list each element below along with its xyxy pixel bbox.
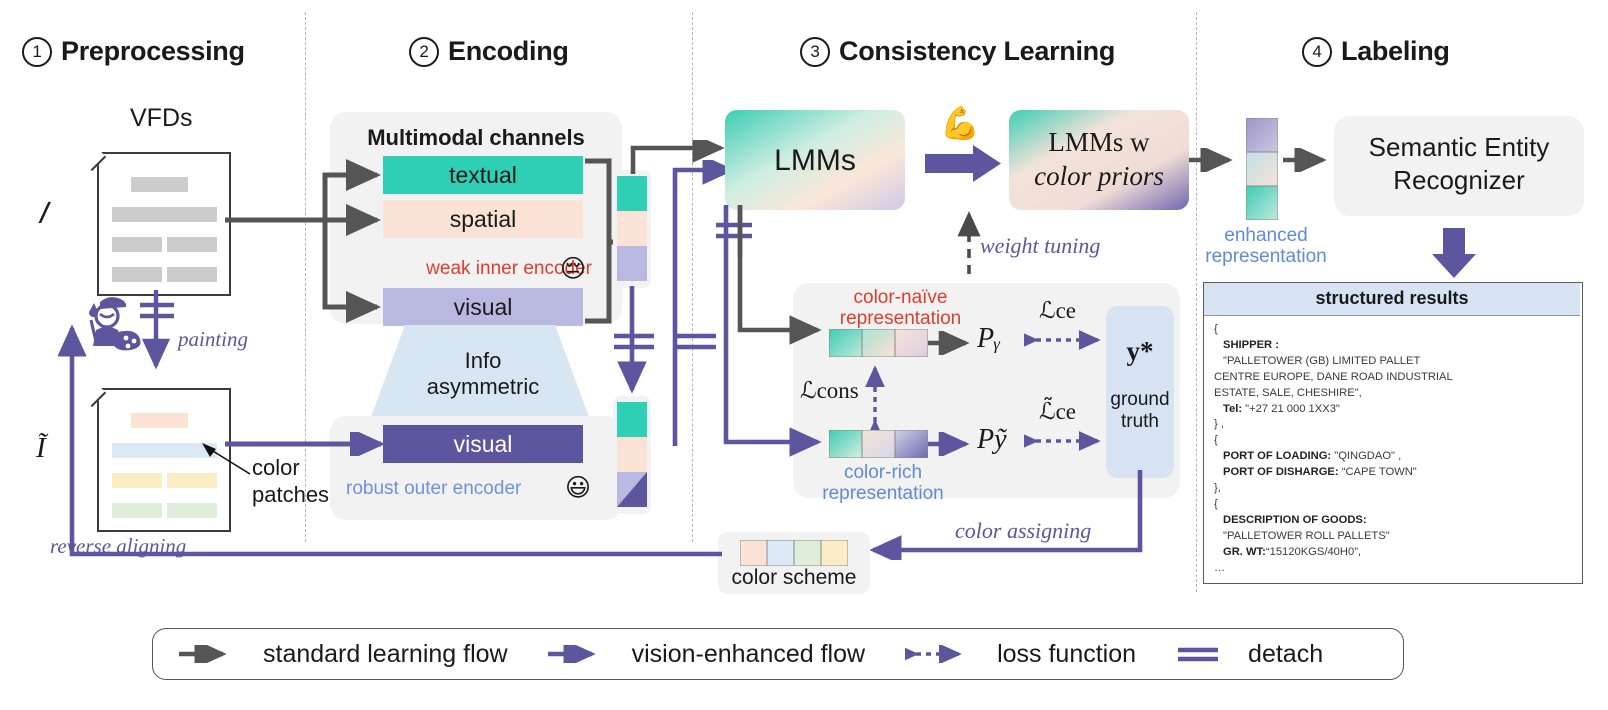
arrow-gray-icon [179,645,237,663]
legend-label-standard-flow: standard learning flow [263,640,508,669]
result-key: PORT OF LOADING: [1223,450,1331,462]
color-naive-representation [829,329,928,357]
result-key: GR. WT: [1223,546,1266,558]
result-line: SHIPPER : [1214,338,1574,354]
structured-results-body: {SHIPPER :"PALLETOWER (GB) LIMITED PALLE… [1214,322,1574,577]
recognizer-to-results-arrow [1432,228,1480,282]
semantic-entity-recognizer-label: Semantic Entity Recognizer [1334,131,1584,196]
stage-title-labeling: 4 Labeling [1302,36,1450,67]
doc-bar [112,237,162,252]
color-naive-line1: color-naïve [793,288,1008,309]
color-assigning-path [855,470,1155,560]
p-y-tilde-label: Pỹ [977,424,1007,456]
double-arrow-dotted-icon [905,645,971,663]
stage-number-4: 4 [1302,37,1332,67]
stage-number-1: 1 [22,37,52,67]
enhanced-to-recognizer-arrow [1283,148,1335,172]
multimodal-channels-title: Multimodal channels [330,125,622,151]
legend-bar: standard learning flow vision-enhanced f… [152,628,1404,680]
result-value: "QINGDAO" , [1331,450,1401,462]
color-naive-line2: representation [793,309,1008,330]
result-line: "PALLETOWER (GB) LIMITED PALLET [1214,354,1574,370]
legend-label-vision-flow: vision-enhanced flow [632,640,865,669]
color-scheme-label: color scheme [718,566,870,590]
reverse-aligning-path [58,318,730,566]
stage-title-encoding: 2 Encoding [409,36,569,67]
doc-bar [131,177,188,192]
ground-truth-label: ground truth [1106,389,1174,434]
stage-label-2: Encoding [448,36,569,67]
source-document [97,152,231,296]
result-value: … [1214,562,1225,574]
result-line: … [1214,561,1574,577]
lmms-tuned-line2: color priors [1009,160,1189,194]
result-value: CENTRE EUROPE, DANE ROAD INDUSTRIAL [1214,371,1453,383]
result-line: PORT OF DISHARGE: “CAPE TOWN" [1214,465,1574,481]
token-spatial [617,211,647,246]
stage-divider-3 [1196,12,1197,592]
vfds-title: VFDs [130,104,193,133]
result-key: Tel: [1223,403,1242,415]
lmms-tuned-line1: LMMs w [1009,126,1189,160]
lmms-to-enhanced-arrow [1189,148,1241,172]
result-key: DESCRIPTION OF GOODS: [1223,514,1367,526]
result-line: }, [1214,481,1574,497]
loss-ce-tilde-label: ℒ̃ce [1039,399,1076,425]
result-value: { [1214,323,1218,335]
p-y-label: Pᵧ [977,323,1001,355]
channel-textual-label: textual [449,162,517,189]
stage-title-preprocessing: 1 Preprocessing [22,36,245,67]
result-line: { [1214,497,1574,513]
enhanced-representation-stack [1246,118,1278,220]
result-line: PORT OF LOADING: "QINGDAO" , [1214,449,1574,465]
result-value: { [1214,498,1218,510]
result-line: { [1214,322,1574,338]
stage-label-3: Consistency Learning [839,36,1115,67]
result-key: PORT OF DISHARGE: [1223,466,1339,478]
result-line: } , [1214,417,1574,433]
weight-tuning-label: weight tuning [980,233,1100,259]
naive-to-py-arrow [928,331,978,355]
strength-emoji: 💪 [940,104,980,142]
rich-to-pytilde-arrow [928,432,978,456]
result-value: “15120KGS/40H0”, [1266,546,1361,558]
loss-ce-arrow [1024,327,1110,353]
doc-bar [167,237,217,252]
loss-ce-tilde-arrow [1024,428,1110,454]
result-line: DESCRIPTION OF GOODS: [1214,513,1574,529]
channel-visual-inner-label: visual [454,294,513,321]
result-line: { [1214,433,1574,449]
doc-bar [112,267,162,282]
result-value: "PALLETOWER (GB) LIMITED PALLET [1223,355,1420,367]
color-assigning-label: color assigning [955,518,1091,544]
source-document-symbol: 𝐼 [38,198,46,231]
result-value: “CAPE TOWN" [1339,466,1417,478]
result-value: }, [1214,482,1221,494]
legend-label-loss-function: loss function [997,640,1136,669]
enhanced-representation-label: enhanced representation [1196,225,1336,268]
color-rich-representation [829,430,928,458]
result-value: } , [1214,418,1224,430]
loss-ce-label: ℒce [1039,298,1076,324]
lmms-tuned-label: LMMs w color priors [1009,126,1189,194]
enhanced-line1: enhanced [1196,225,1336,246]
recognizer-line2: Recognizer [1334,164,1584,197]
legend-label-detach: detach [1248,640,1323,669]
result-value: "PALLETOWER ROLL PALLETS" [1223,530,1390,542]
loss-cons-label: ℒcons [800,378,859,404]
channel-spatial-label: spatial [450,206,516,233]
stage-number-3: 3 [800,37,830,67]
recognizer-line1: Semantic Entity [1334,131,1584,164]
result-line: Tel: "+27 21 000 1XX3" [1214,402,1574,418]
painted-document-symbol: Ĩ [36,432,46,465]
stage-title-consistency: 3 Consistency Learning [800,36,1115,67]
doc-to-channels-arrows [225,150,395,330]
ground-truth-line2: truth [1106,411,1174,433]
doc-fold-corner [76,141,106,171]
token-visual [617,246,647,281]
ground-truth-symbol: y* [1106,336,1174,367]
loss-cons-arrow [862,356,888,434]
stage-label-4: Labeling [1341,36,1450,67]
result-value: "+27 21 000 1XX3" [1242,403,1340,415]
doc-bar [112,207,217,222]
result-value: { [1214,434,1218,446]
color-naive-label: color-naïve representation [793,288,1008,330]
result-value: ESTATE, SALE, CHESHIRE", [1214,387,1362,399]
channel-spatial: spatial [383,200,583,238]
stage-label-1: Preprocessing [61,36,245,67]
result-line: "PALLETOWER ROLL PALLETS" [1214,529,1574,545]
stage-number-2: 2 [409,37,439,67]
channel-textual: textual [383,156,583,194]
result-line: GR. WT:“15120KGS/40H0”, [1214,545,1574,561]
enhanced-line2: representation [1196,246,1336,267]
lmms-upgrade-arrow [925,145,1005,187]
result-key: SHIPPER : [1223,339,1279,351]
ground-truth-line1: ground [1106,389,1174,411]
structured-results-title: structured results [1204,288,1580,309]
detach-equals-icon [1176,645,1222,663]
lmms-label: LMMs [725,144,905,178]
arrow-purple-icon [548,645,606,663]
doc-bar [167,267,217,282]
color-scheme-swatches [740,540,848,566]
result-line: CENTRE EUROPE, DANE ROAD INDUSTRIAL [1214,370,1574,386]
result-line: ESTATE, SALE, CHESHIRE", [1214,386,1574,402]
